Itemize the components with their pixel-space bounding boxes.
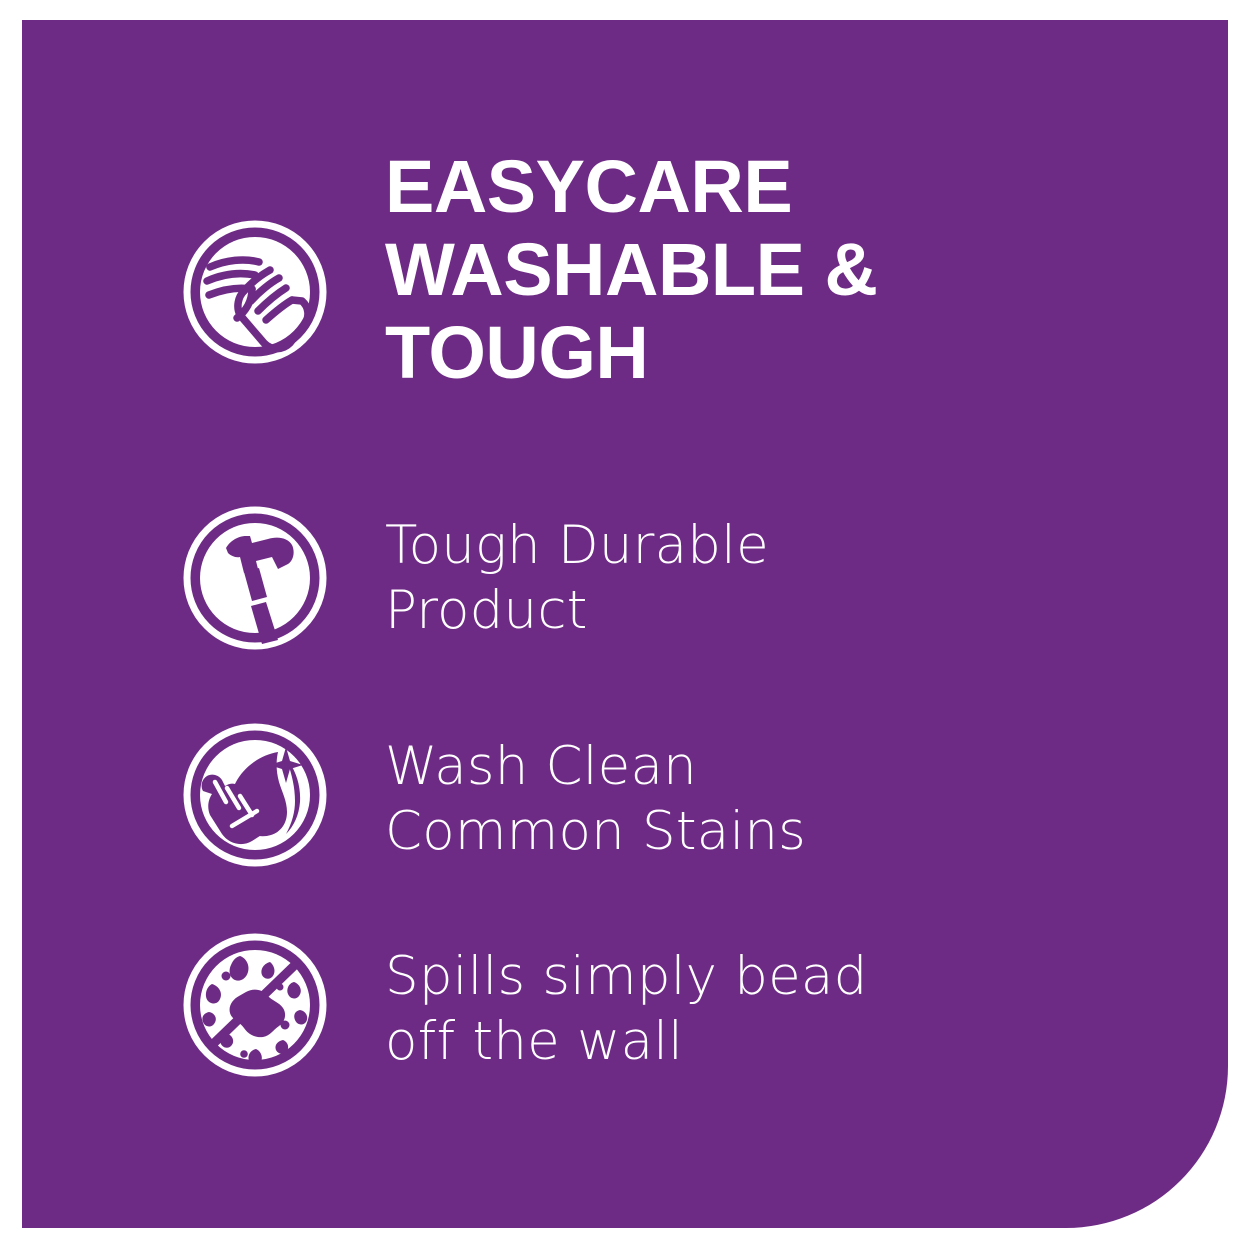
- feature-3-line-1: Spills simply bead: [385, 945, 1085, 1010]
- feature-2-line-2: Common Stains: [385, 800, 1085, 865]
- hammer-icon: [182, 505, 328, 651]
- wiping-hand-sparkle-icon: [182, 722, 328, 868]
- feature-1-line-1: Tough Durable: [385, 514, 1085, 579]
- easycare-feature-poster: EASYCARE WASHABLE & TOUGH Tough Durable …: [0, 0, 1250, 1250]
- no-splatter-icon: [182, 932, 328, 1078]
- washing-hands-icon: [182, 219, 328, 365]
- feature-3-line-2: off the wall: [385, 1010, 1085, 1075]
- headline-line-2: WASHABLE &: [385, 228, 877, 311]
- feature-1-line-2: Product: [385, 579, 1085, 644]
- headline-line-1: EASYCARE: [385, 145, 792, 228]
- feature-text-2: Wash Clean Common Stains: [385, 735, 1085, 864]
- feature-text-1: Tough Durable Product: [385, 514, 1085, 643]
- page-title: EASYCARE WASHABLE & TOUGH: [385, 146, 1085, 395]
- feature-text-3: Spills simply bead off the wall: [385, 945, 1085, 1074]
- feature-2-line-1: Wash Clean: [385, 735, 1085, 800]
- headline-line-3: TOUGH: [385, 311, 648, 394]
